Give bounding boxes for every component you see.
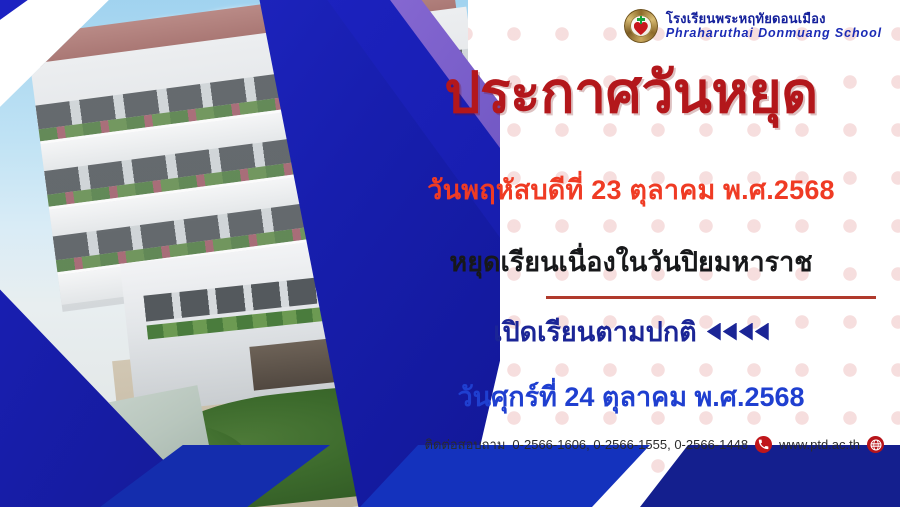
school-crest-icon bbox=[624, 9, 658, 43]
globe-icon bbox=[867, 436, 884, 453]
contact-prefix: ติดต่อสอบถาม bbox=[425, 434, 506, 455]
holiday-reason-line: หยุดเรียนเนื่องในวันปิยมหาราช bbox=[380, 240, 882, 283]
announcement-headline: ประกาศวันหยุด bbox=[380, 62, 882, 125]
cross-icon bbox=[637, 18, 645, 21]
school-brand-lockup: โรงเรียนพระหฤทัยดอนเมือง Phraharuthai Do… bbox=[624, 9, 882, 43]
arrow-left-icon bbox=[723, 323, 737, 341]
contact-footer: ติดต่อสอบถาม 0-2566-1606, 0-2566-1555, 0… bbox=[380, 434, 884, 455]
phone-icon bbox=[755, 436, 772, 453]
arrow-left-icon bbox=[755, 323, 769, 341]
arrow-left-icon bbox=[707, 323, 721, 341]
website-url[interactable]: www.ptd.ac.th bbox=[779, 437, 860, 452]
reopen-label: เปิดเรียนตามปกติ bbox=[493, 310, 696, 353]
reopen-line: เปิดเรียนตามปกติ bbox=[380, 310, 882, 353]
content-column: โรงเรียนพระหฤทัยดอนเมือง Phraharuthai Do… bbox=[380, 0, 900, 507]
contact-phone-numbers: 0-2566-1606, 0-2566-1555, 0-2566-1448 bbox=[512, 437, 748, 452]
holiday-date-line: วันพฤหัสบดีที่ 23 ตุลาคม พ.ศ.2568 bbox=[380, 168, 882, 211]
school-name-english: Phraharuthai Donmuang School bbox=[666, 27, 882, 40]
horizontal-divider bbox=[546, 296, 876, 299]
reopen-date-line: วันศุกร์ที่ 24 ตุลาคม พ.ศ.2568 bbox=[380, 375, 882, 418]
left-arrows-icon bbox=[707, 323, 769, 341]
arrow-left-icon bbox=[739, 323, 753, 341]
school-name-thai: โรงเรียนพระหฤทัยดอนเมือง bbox=[666, 12, 882, 25]
brand-text-block: โรงเรียนพระหฤทัยดอนเมือง Phraharuthai Do… bbox=[666, 12, 882, 40]
crest-inner-disc bbox=[630, 15, 652, 37]
holiday-announcement-poster: โรงเรียนพระหฤทัยดอนเมือง Phraharuthai Do… bbox=[0, 0, 900, 507]
